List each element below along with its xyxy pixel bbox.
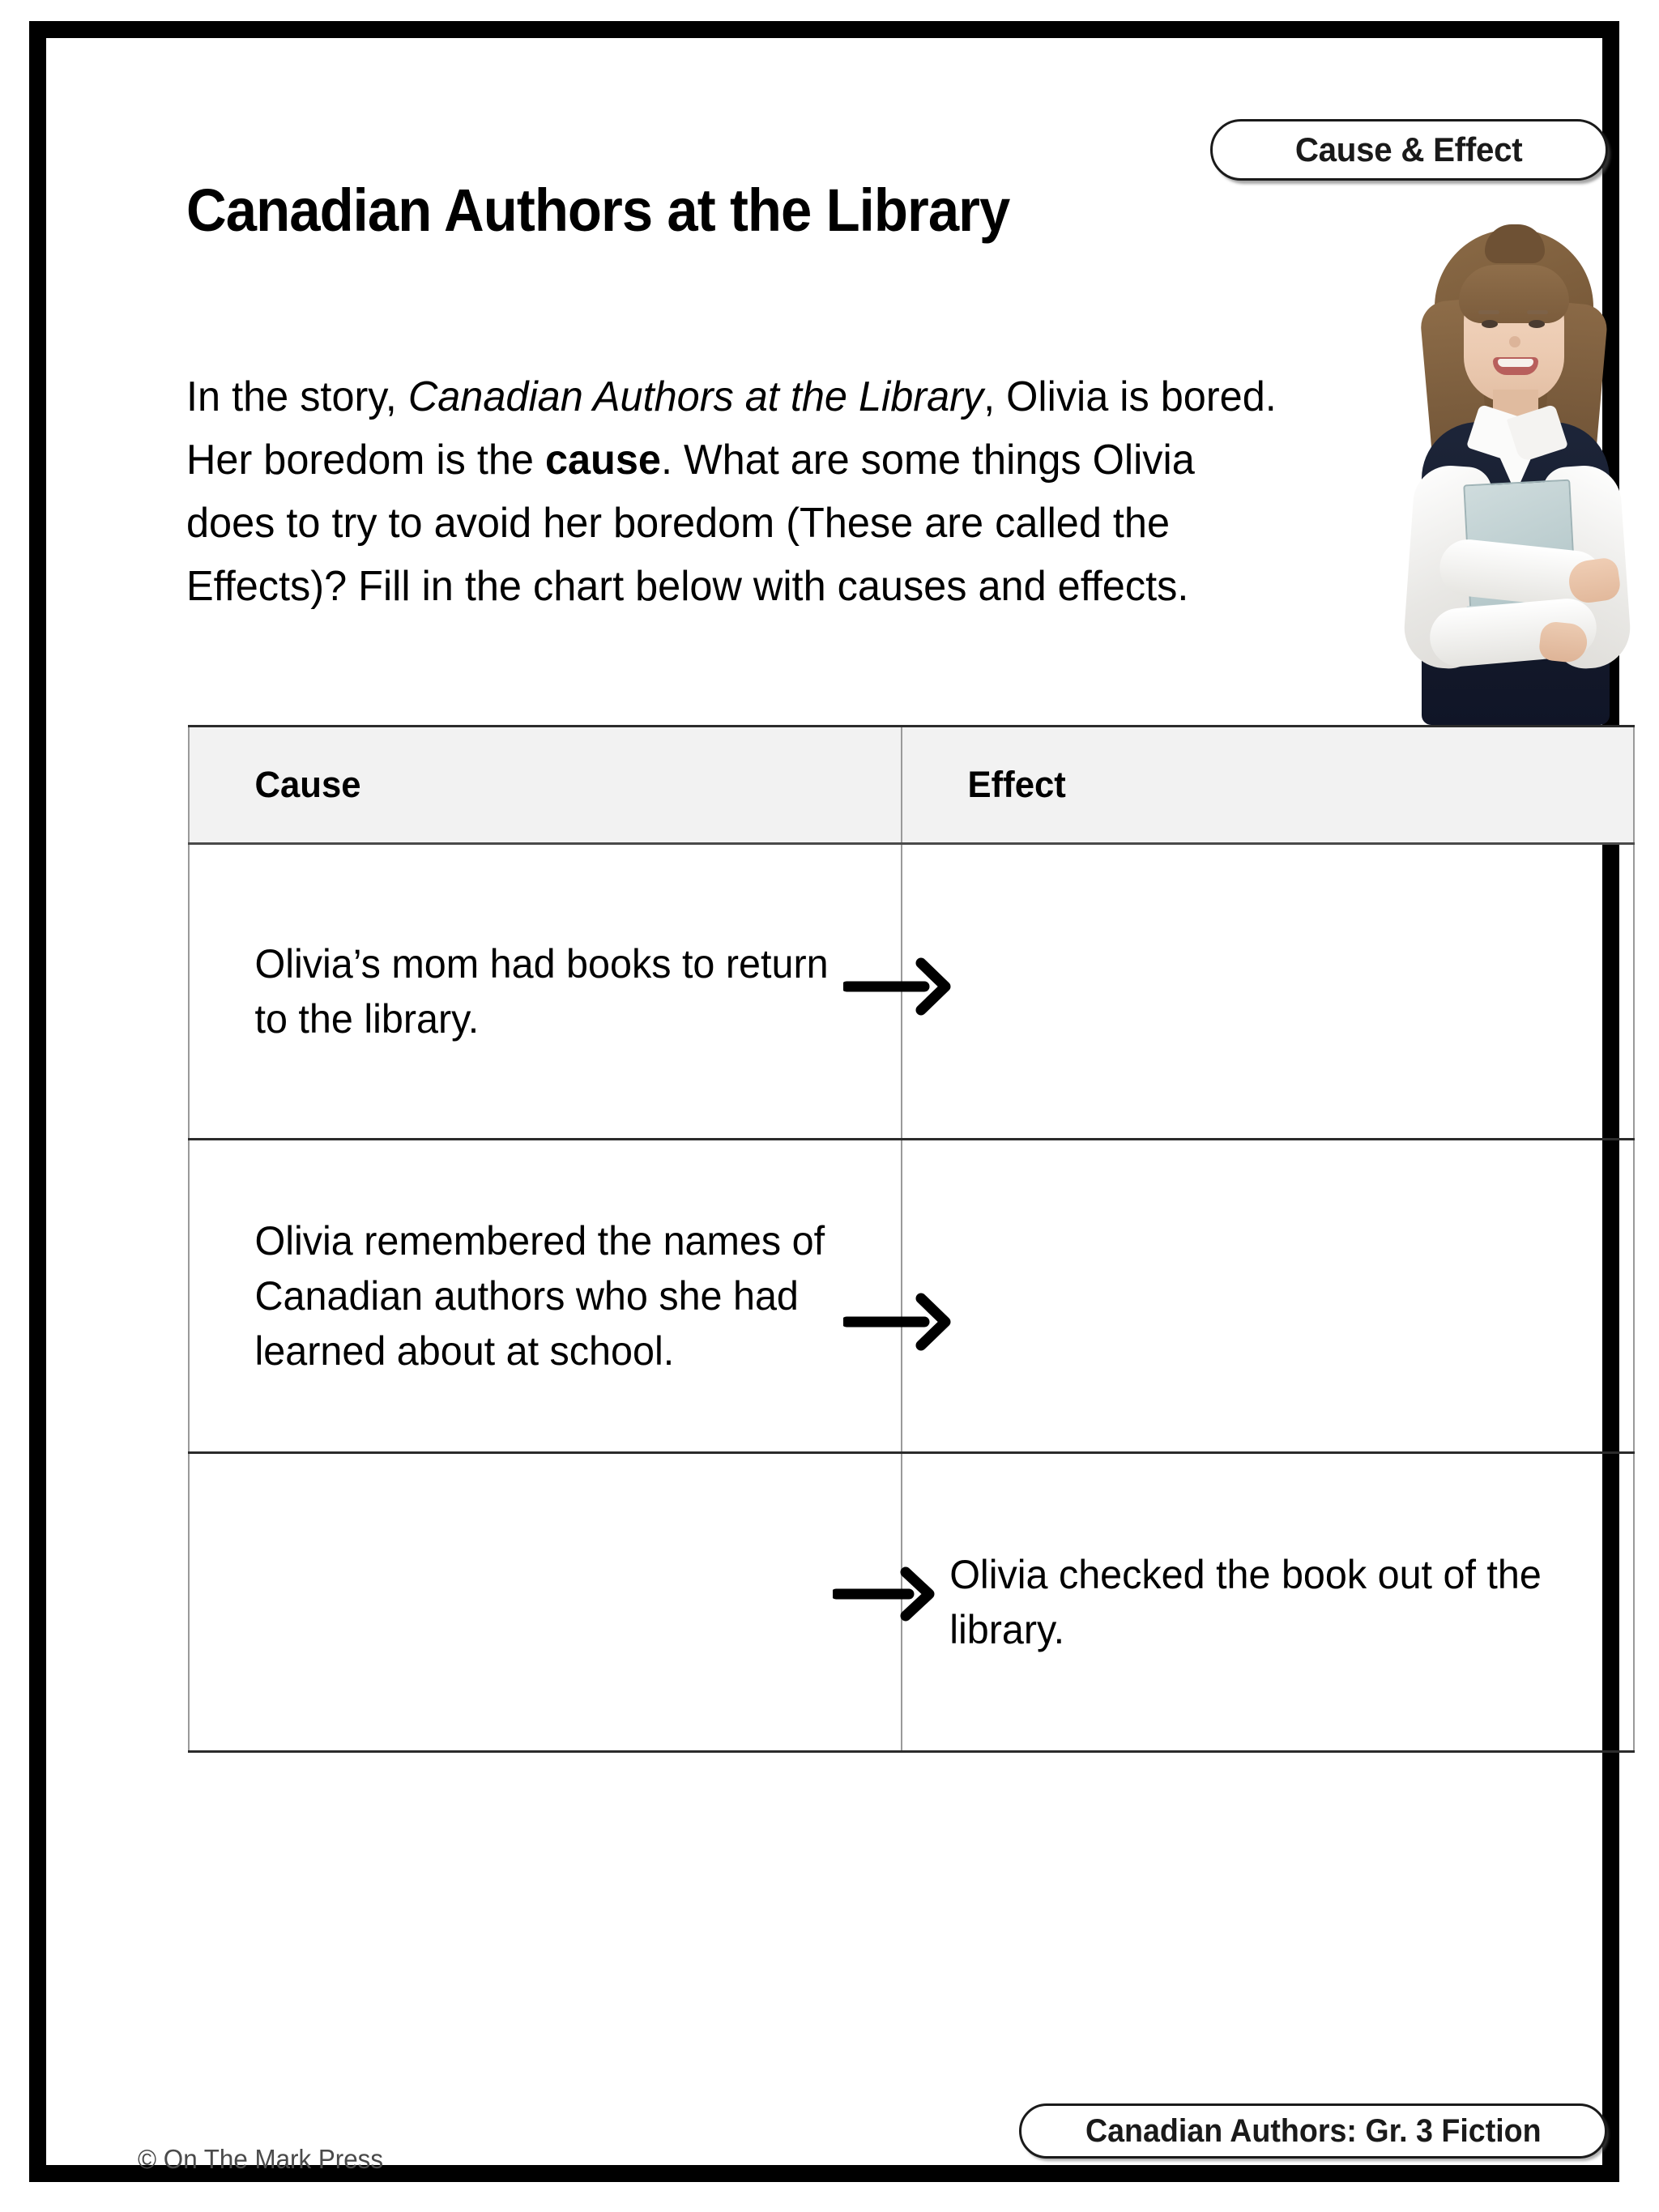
copyright-notice: © On The Mark Press xyxy=(138,2144,383,2175)
table-row: Olivia remembered the names of Canadian … xyxy=(189,1140,1634,1453)
effect-cell-3[interactable]: Olivia checked the book out of the libra… xyxy=(902,1453,1634,1752)
nose-shape xyxy=(1509,336,1520,347)
hair-bun-shape xyxy=(1485,224,1545,263)
eyebrow-left-shape xyxy=(1478,310,1499,314)
cause-cell-3-text xyxy=(190,1598,880,1606)
cause-cell-2-text: Olivia remembered the names of Canadian … xyxy=(190,1213,880,1379)
effect-cell-3-text: Olivia checked the book out of the libra… xyxy=(902,1547,1611,1657)
topic-badge: Cause & Effect xyxy=(1210,119,1608,181)
eye-right-shape xyxy=(1529,320,1545,328)
column-header-cause-label: Cause xyxy=(190,764,361,806)
effect-cell-1[interactable] xyxy=(902,844,1634,1140)
student-holding-book-photo xyxy=(1397,223,1632,725)
effect-cell-1-text xyxy=(902,987,1611,995)
series-badge-label: Canadian Authors: Gr. 3 Fiction xyxy=(1085,2113,1542,2150)
cause-cell-1[interactable]: Olivia’s mom had books to return to the … xyxy=(189,844,902,1140)
teeth-shape xyxy=(1498,359,1533,367)
column-header-cause: Cause xyxy=(189,727,902,844)
table-row: Olivia checked the book out of the libra… xyxy=(189,1453,1634,1752)
cause-keyword-bold: cause xyxy=(545,437,661,484)
column-header-effect-label: Effect xyxy=(902,764,1066,806)
table-row: Olivia’s mom had books to return to the … xyxy=(189,844,1634,1140)
chart-body: Olivia’s mom had books to return to the … xyxy=(189,844,1634,1752)
story-title-italic: Canadian Authors at the Library xyxy=(408,373,983,420)
worksheet-content-area: Cause & Effect Canadian Authors at the L… xyxy=(46,38,1602,2165)
topic-badge-label: Cause & Effect xyxy=(1295,130,1523,169)
cause-cell-1-text: Olivia’s mom had books to return to the … xyxy=(190,936,880,1046)
eye-left-shape xyxy=(1482,320,1498,328)
series-badge: Canadian Authors: Gr. 3 Fiction xyxy=(1019,2103,1607,2159)
instructions-part-1: In the story, xyxy=(186,373,408,420)
cause-cell-3[interactable] xyxy=(189,1453,902,1752)
effect-cell-2[interactable] xyxy=(902,1140,1634,1453)
cause-effect-chart: Cause Effect Olivia’s mom had books to r… xyxy=(188,725,1635,1753)
chart-header-row: Cause Effect xyxy=(189,727,1634,844)
eyebrow-right-shape xyxy=(1527,310,1548,314)
instructions-paragraph: In the story, Canadian Authors at the Li… xyxy=(186,365,1278,618)
worksheet-page: Cause & Effect Canadian Authors at the L… xyxy=(0,0,1659,2212)
column-header-effect: Effect xyxy=(902,727,1634,844)
effect-cell-2-text xyxy=(902,1292,1611,1300)
page-title: Canadian Authors at the Library xyxy=(186,181,1009,241)
hair-fringe-shape xyxy=(1459,265,1569,323)
cause-cell-2[interactable]: Olivia remembered the names of Canadian … xyxy=(189,1140,902,1453)
